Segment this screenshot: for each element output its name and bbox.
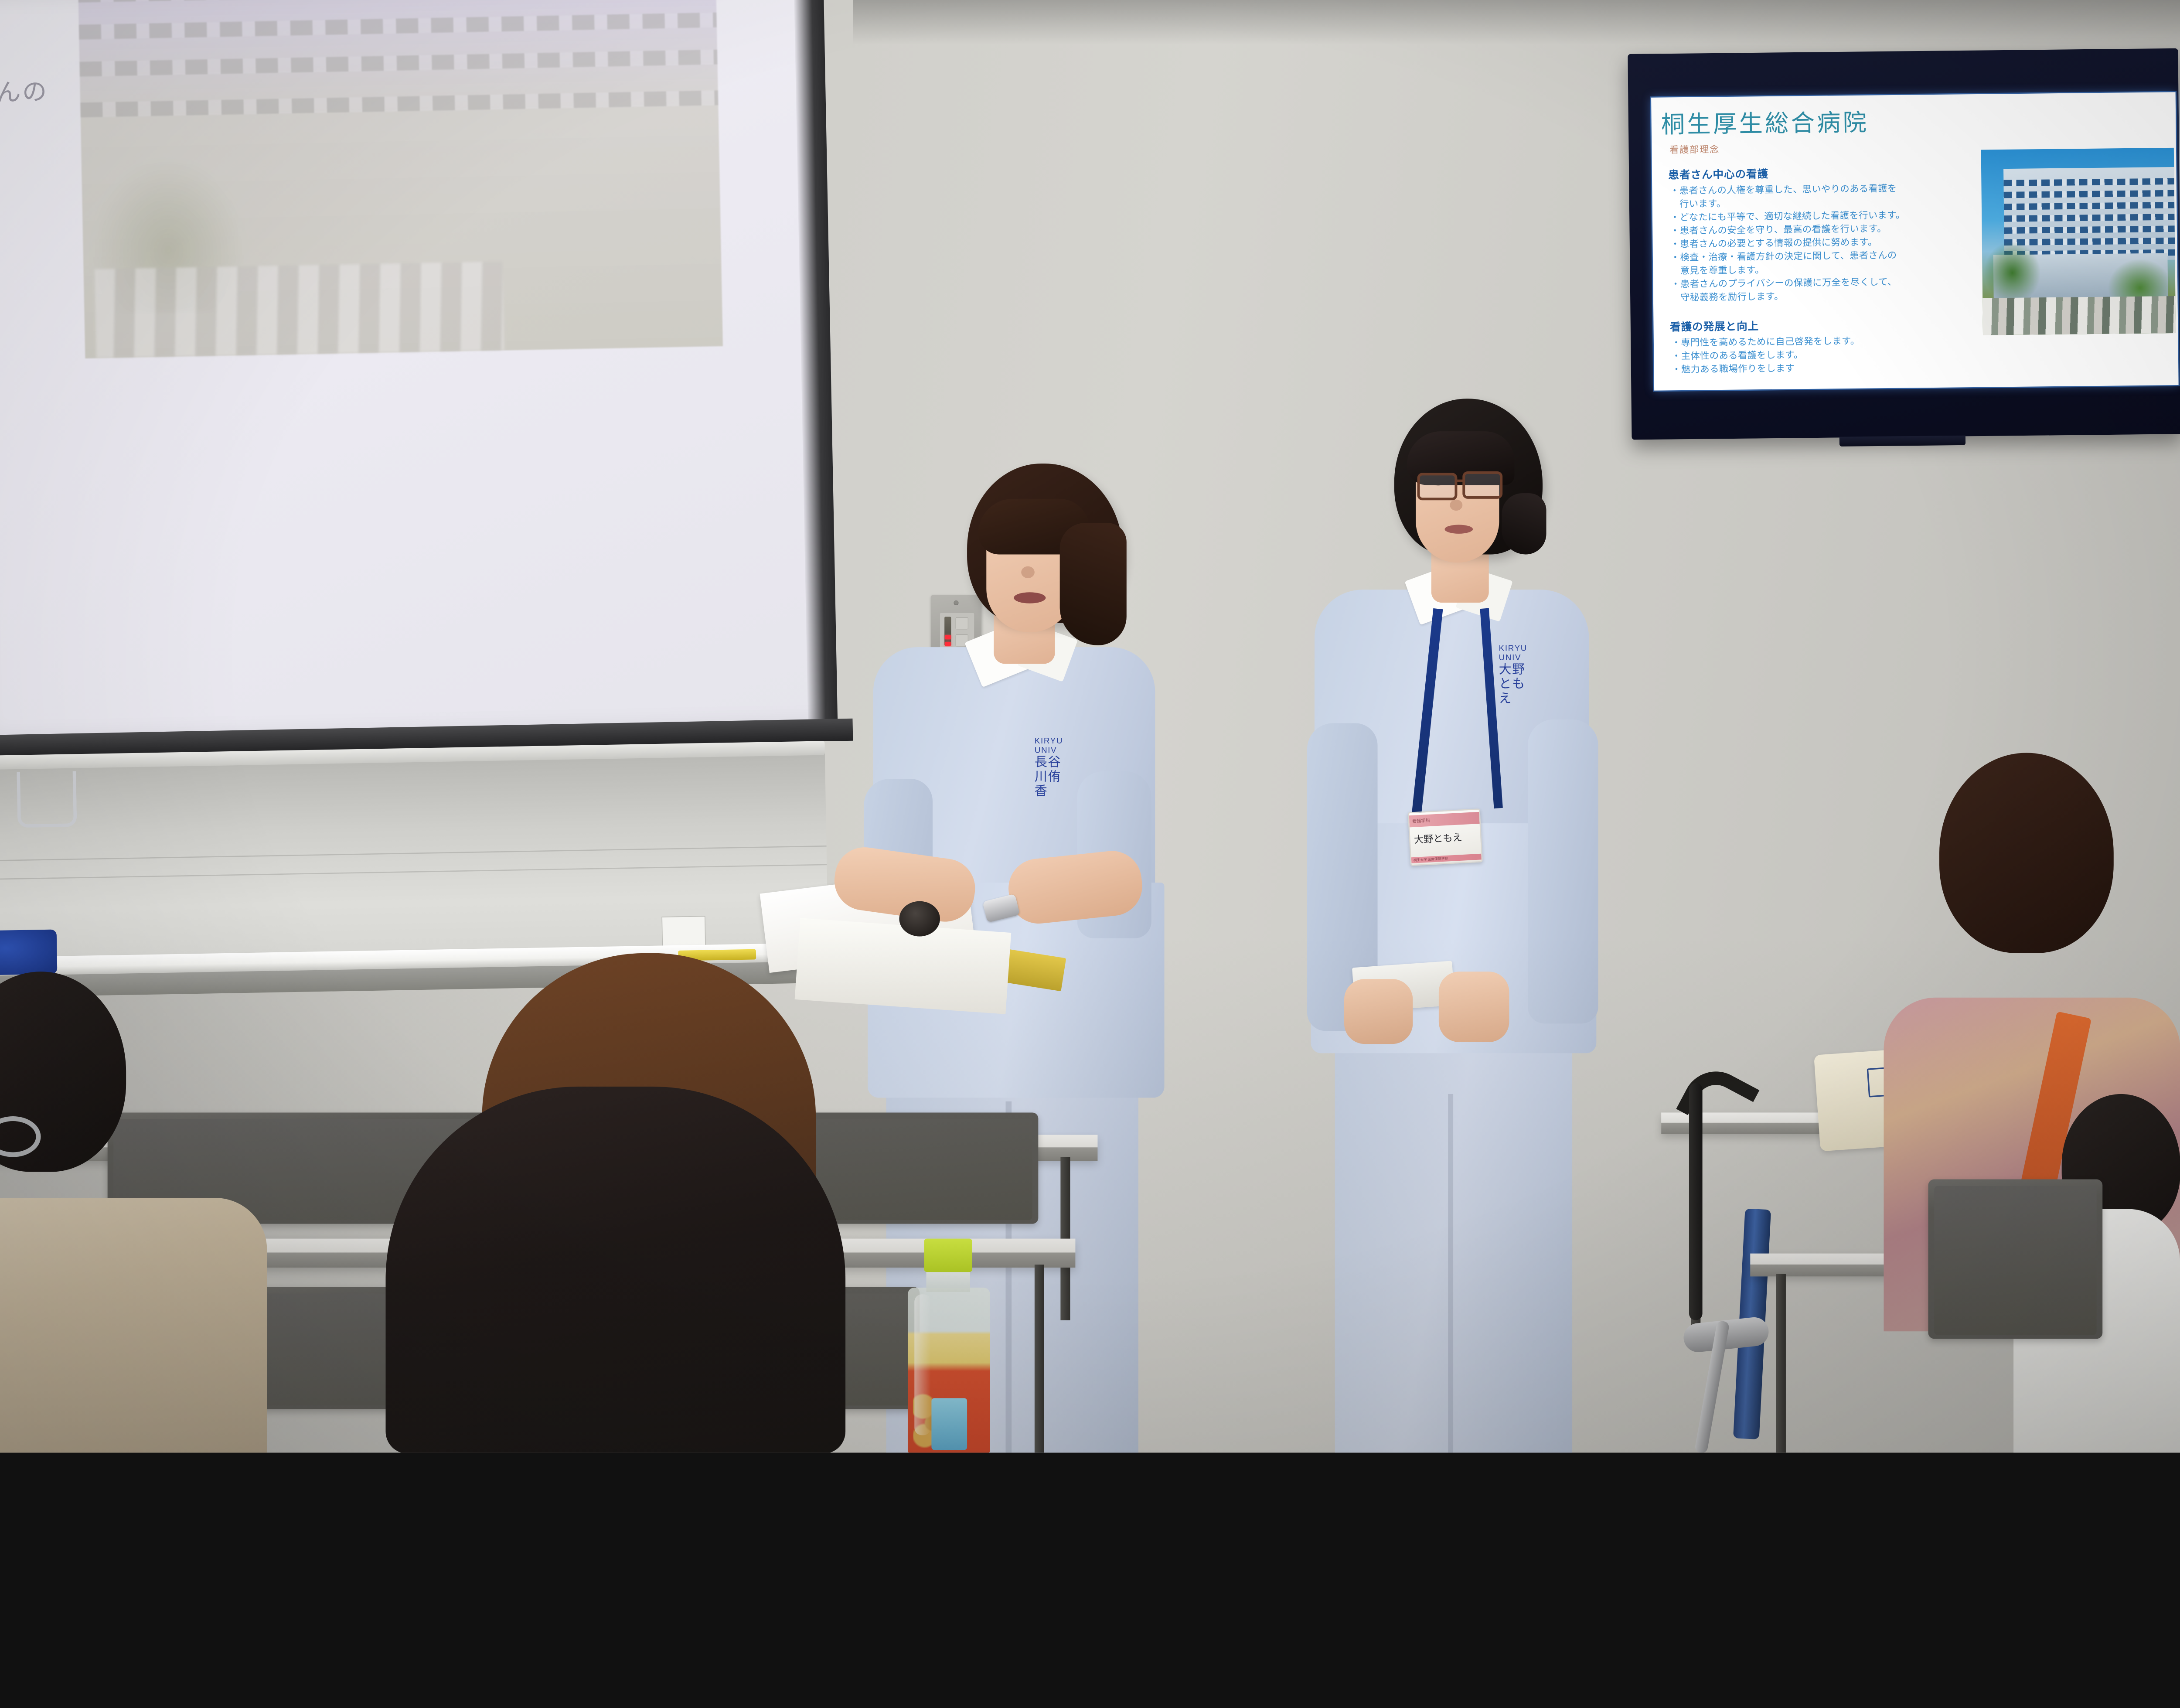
panel-button-up[interactable] xyxy=(956,617,968,629)
presenter-left-embroidery: KIRYU UNIV 長谷川侑香 xyxy=(1035,736,1063,798)
slide-bullet: ・患者さんのプライバシーの保護に万全を尽くして、 xyxy=(1671,275,1897,290)
presenter-left-hair-side xyxy=(1060,523,1127,645)
slide-bullet: ・主体性のある看護をします。 xyxy=(1672,348,1803,362)
presenter-left-head xyxy=(967,464,1123,649)
glasses-bridge xyxy=(1457,480,1465,482)
slide-subtitle: 看護部理念 xyxy=(1669,142,1720,156)
embroidery-romaji: KIRYU UNIV xyxy=(1499,644,1527,662)
wall-mounted-monitor[interactable]: 桐生厚生総合病院 看護部理念 患者さん中心の看護 ・患者さんの人権を尊重した、思… xyxy=(1628,48,2180,440)
panel-slider[interactable] xyxy=(944,617,951,645)
slide-bullet: ・患者さんの人権を尊重した、思いやりのある看護を xyxy=(1670,181,1897,197)
slide-bullet: ・専門性を高めるために自己啓発をします。 xyxy=(1672,334,1860,349)
slide-bullet: ・検査・治療・看護方針の決定に関して、患者さんの xyxy=(1671,248,1897,263)
slide-bullet: 守秘義務を励行します。 xyxy=(1671,289,1784,303)
id-badge-band-label: 看護学科 xyxy=(1409,818,1430,824)
embroidery-name: 長谷川侑香 xyxy=(1035,755,1063,798)
ceiling-shadow xyxy=(853,0,2180,44)
presentation-room-scene: さんの て、 桐生厚生総合病院 看 xyxy=(0,0,2180,1452)
glasses-lens-left xyxy=(1417,473,1458,500)
id-badge-name: 大野ともえ xyxy=(1414,830,1462,846)
monitor-screen: 桐生厚生総合病院 看護部理念 患者さん中心の看護 ・患者さんの人権を尊重した、思… xyxy=(1651,92,2179,390)
whiteboard-hook[interactable] xyxy=(17,771,77,828)
presenter-right-embroidery: KIRYU UNIV 大野ともえ xyxy=(1499,644,1527,706)
handheld-microphone[interactable] xyxy=(899,901,940,937)
glasses-lens-right xyxy=(1462,471,1502,499)
slide-section-heading-2: 看護の発展と向上 xyxy=(1670,317,1759,334)
slide-bullet: 行います。 xyxy=(1670,196,1726,210)
projected-text-fragment-1: さんの xyxy=(0,72,48,109)
slide-title: 桐生厚生総合病院 xyxy=(1661,103,1869,140)
id-badge-band: 看護学科 xyxy=(1409,812,1480,828)
presenter-right-head xyxy=(1394,399,1543,573)
slide-bullet: ・魅力ある職場作りをします xyxy=(1672,361,1795,376)
slide-section-heading-1: 患者さん中心の看護 xyxy=(1668,165,1768,182)
floor-shadow xyxy=(0,934,2180,1453)
slide-hospital-photo xyxy=(1981,148,2176,335)
audience-head xyxy=(1939,753,2114,953)
projected-text-fragment-2: て、 xyxy=(0,152,14,189)
embroidery-romaji: KIRYU UNIV xyxy=(1035,736,1063,755)
slide-bullet: ・患者さんの必要とする情報の提供に努めます。 xyxy=(1670,235,1877,250)
id-badge[interactable]: 看護学科 大野ともえ 桐生大学 医療保健学部 xyxy=(1408,808,1483,866)
embroidery-name: 大野ともえ xyxy=(1499,662,1527,706)
presenter-right-hair-bun xyxy=(1502,493,1546,554)
projection-screen: さんの て、 xyxy=(0,0,838,739)
projected-hospital-photo xyxy=(75,0,723,358)
status-led-2 xyxy=(945,642,951,646)
monitor-wall-mount xyxy=(1839,436,1965,447)
status-led-1 xyxy=(945,635,951,639)
id-badge-footer: 桐生大学 医療保健学部 xyxy=(1411,854,1482,863)
slide-bullet: 意見を尊重します。 xyxy=(1671,263,1764,277)
panel-screw xyxy=(954,600,958,605)
